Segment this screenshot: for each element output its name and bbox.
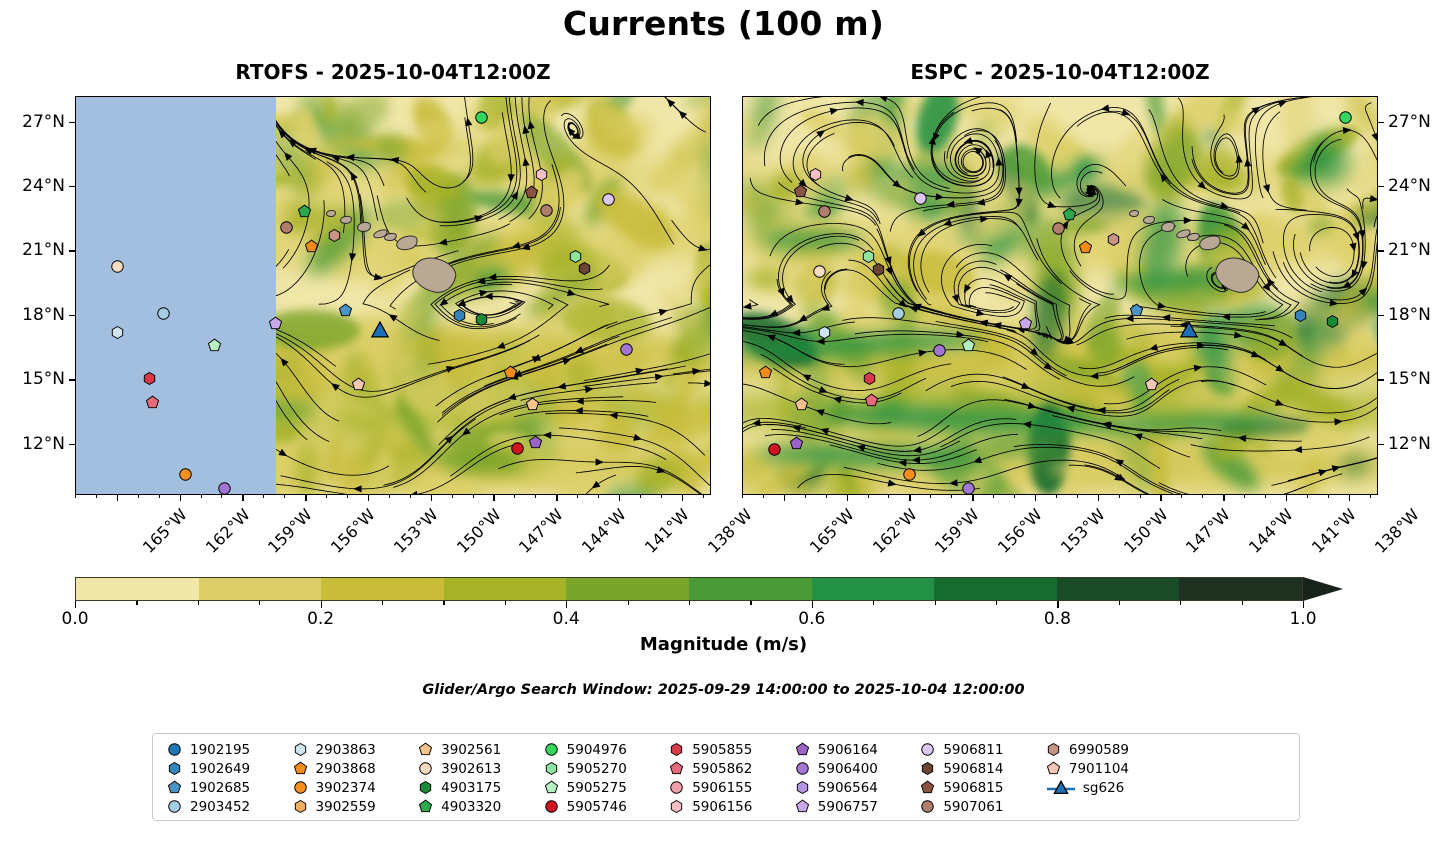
- legend-label: 5906811: [943, 742, 1003, 758]
- legend-label: 5906815: [943, 780, 1003, 796]
- map-marker-1902649[interactable]: [1293, 308, 1308, 323]
- x-axis-minor-tick: [514, 495, 515, 498]
- map-marker-4903320[interactable]: [1062, 207, 1077, 222]
- x-axis-tick: [1349, 495, 1350, 501]
- legend-item-5905270[interactable]: 5905270: [538, 759, 664, 778]
- x-axis-minor-tick: [1244, 495, 1245, 498]
- colorbar-minor-tick: [1242, 601, 1243, 605]
- colorbar-minor-tick: [873, 601, 874, 605]
- legend-label: 5905270: [567, 761, 627, 777]
- map-marker-5907061[interactable]: [279, 220, 294, 235]
- legend-marker-pentagon-icon: [1046, 761, 1062, 777]
- legend-marker-hexagon-icon: [293, 799, 309, 815]
- map-marker-4903175[interactable]: [1325, 314, 1340, 329]
- legend-item-3902561[interactable]: 3902561: [412, 740, 538, 759]
- colorbar-minor-tick: [935, 601, 936, 605]
- island-shape: [1142, 215, 1155, 224]
- legend-box: 1902195190264919026852903452290386329038…: [152, 733, 1300, 821]
- y-axis-tick: [69, 315, 75, 316]
- legend-marker-hexagon-icon: [544, 761, 560, 777]
- map-marker-sg626[interactable]: [370, 320, 390, 340]
- map-marker-6990589[interactable]: [327, 228, 342, 243]
- legend-marker-hexagon-icon: [293, 742, 309, 758]
- map-marker-5906164[interactable]: [528, 435, 543, 450]
- x-axis-minor-tick: [640, 495, 641, 498]
- map-marker-5906400[interactable]: [619, 342, 634, 357]
- colorbar-tick: [812, 601, 813, 608]
- legend-marker-circle-icon: [544, 799, 560, 815]
- map-marker-2903452[interactable]: [891, 306, 906, 321]
- colorbar-minor-tick: [382, 601, 383, 605]
- map-marker-1902685[interactable]: [1129, 303, 1144, 318]
- x-axis-tick: [242, 495, 243, 501]
- legend-label: 5907061: [943, 799, 1003, 815]
- legend-item-3902374[interactable]: 3902374: [287, 778, 413, 797]
- x-axis-tick-label: 138°W: [704, 505, 756, 557]
- x-axis-minor-tick: [1119, 495, 1120, 498]
- map-marker-2903868[interactable]: [758, 365, 773, 380]
- y-axis-tick: [69, 379, 75, 380]
- x-axis-tick-label: 162°W: [202, 505, 254, 557]
- legend-item-5906564[interactable]: 5906564: [789, 778, 915, 797]
- legend-item-4903320[interactable]: 4903320: [412, 798, 538, 817]
- legend-label: 5904976: [567, 742, 627, 758]
- x-axis-minor-tick: [868, 495, 869, 498]
- x-axis-tick: [180, 495, 181, 501]
- legend-label: 3902613: [441, 761, 501, 777]
- map-marker-5905862[interactable]: [145, 395, 160, 410]
- legend-marker-circle-icon: [795, 761, 811, 777]
- x-axis-minor-tick: [763, 495, 764, 498]
- map-marker-5905746[interactable]: [510, 441, 525, 456]
- legend-marker-triangle-line-icon: [1046, 780, 1076, 796]
- legend-label: 4903320: [441, 799, 501, 815]
- map-marker-3902561[interactable]: [794, 397, 809, 412]
- legend-label: 5905862: [692, 761, 752, 777]
- x-axis-minor-tick: [326, 495, 327, 498]
- x-axis-minor-tick: [535, 495, 536, 498]
- colorbar-minor-tick: [505, 601, 506, 605]
- colorbar-minor-tick: [198, 601, 199, 605]
- x-axis-tick: [368, 495, 369, 501]
- y-axis-tick-label: 24°N: [1388, 176, 1447, 196]
- legend-grid: 1902195190264919026852903452290386329038…: [161, 740, 1291, 816]
- map-marker-4903175[interactable]: [474, 312, 489, 327]
- y-axis-tick: [69, 250, 75, 251]
- legend-marker-hexagon-icon: [669, 799, 685, 815]
- x-axis-tick: [556, 495, 557, 501]
- y-axis-tick: [69, 186, 75, 187]
- map-marker-5905862[interactable]: [864, 393, 879, 408]
- map-marker-3902374[interactable]: [902, 467, 917, 482]
- x-axis-tick: [1223, 495, 1224, 501]
- map-marker-5906757[interactable]: [1018, 316, 1033, 331]
- map-marker-5907061[interactable]: [817, 204, 832, 219]
- x-axis-tick-label: 150°W: [1120, 505, 1172, 557]
- y-axis-tick: [69, 444, 75, 445]
- x-axis-minor-tick: [221, 495, 222, 498]
- island-shape: [339, 215, 352, 224]
- colorbar-axis-label: Magnitude (m/s): [0, 634, 1447, 655]
- y-axis-tick-label: 27°N: [0, 112, 65, 132]
- streamlines-espc: [743, 97, 1377, 495]
- colorbar-tick-label: 0.2: [307, 609, 334, 629]
- map-marker-2903868[interactable]: [503, 365, 518, 380]
- map-marker-5907061[interactable]: [539, 203, 554, 218]
- map-marker-5906164[interactable]: [789, 436, 804, 451]
- map-marker-5906811[interactable]: [601, 192, 616, 207]
- legend-item-5905862[interactable]: 5905862: [663, 759, 789, 778]
- x-axis-minor-tick: [951, 495, 952, 498]
- colorbar-band: [444, 578, 567, 600]
- x-axis-tick: [847, 495, 848, 501]
- legend-label: 5906164: [818, 742, 878, 758]
- map-marker-5906815[interactable]: [524, 185, 539, 200]
- legend-label: 5906400: [818, 761, 878, 777]
- legend-item-6990589[interactable]: 6990589: [1040, 740, 1166, 759]
- colorbar-band: [934, 578, 1057, 600]
- map-marker-5905275[interactable]: [961, 338, 976, 353]
- x-axis-minor-tick: [598, 495, 599, 498]
- legend-marker-pentagon-icon: [293, 761, 309, 777]
- map-marker-2903868[interactable]: [1078, 240, 1093, 255]
- y-axis-tick-label: 18°N: [0, 305, 65, 325]
- legend-item-4903175[interactable]: 4903175: [412, 778, 538, 797]
- legend-marker-circle-icon: [920, 742, 936, 758]
- legend-item-5906814[interactable]: 5906814: [914, 759, 1040, 778]
- legend-item-2903452[interactable]: 2903452: [161, 798, 287, 817]
- y-axis-tick-label: 15°N: [1388, 369, 1447, 389]
- x-axis-minor-tick: [1370, 495, 1371, 498]
- map-marker-4903320[interactable]: [297, 204, 312, 219]
- legend-item-7901104[interactable]: 7901104: [1040, 759, 1166, 778]
- map-marker-5906156[interactable]: [534, 167, 549, 182]
- y-axis-tick-label: 27°N: [1388, 112, 1447, 132]
- legend-item-1902685[interactable]: 1902685: [161, 778, 287, 797]
- legend-label: 5906757: [818, 799, 878, 815]
- x-axis-minor-tick: [1202, 495, 1203, 498]
- map-marker-5904976[interactable]: [474, 110, 489, 125]
- legend-marker-hexagon-icon: [920, 761, 936, 777]
- y-axis-tick-label: 12°N: [0, 434, 65, 454]
- y-axis-tick-label: 21°N: [1388, 240, 1447, 260]
- legend-item-5905275[interactable]: 5905275: [538, 778, 664, 797]
- colorbar-tick-label: 0.4: [553, 609, 580, 629]
- x-axis-minor-tick: [1307, 495, 1308, 498]
- colorbar-minor-tick: [136, 601, 137, 605]
- colorbar-band: [812, 578, 935, 600]
- x-axis-minor-tick: [159, 495, 160, 498]
- x-axis-tick-label: 147°W: [1182, 505, 1234, 557]
- x-axis-tick: [1160, 495, 1161, 501]
- legend-marker-pentagon-icon: [418, 799, 434, 815]
- x-axis-tick-label: 156°W: [994, 505, 1046, 557]
- map-marker-3902374[interactable]: [178, 467, 193, 482]
- colorbar-tick-label: 0.0: [61, 609, 88, 629]
- x-axis-tick: [1035, 495, 1036, 501]
- colorbar-minor-tick: [996, 601, 997, 605]
- legend-item-5906400[interactable]: 5906400: [789, 759, 915, 778]
- map-marker-3902613[interactable]: [110, 259, 125, 274]
- legend-label: 2903452: [190, 799, 250, 815]
- x-axis-minor-tick: [703, 495, 704, 498]
- legend-label: 3902561: [441, 742, 501, 758]
- colorbar-tick: [1057, 601, 1058, 608]
- map-marker-5906757[interactable]: [268, 316, 283, 331]
- legend-label: 5905275: [567, 780, 627, 796]
- legend-marker-pentagon-icon: [795, 799, 811, 815]
- map-panel-espc[interactable]: [742, 96, 1378, 495]
- legend-label: 3902559: [316, 799, 376, 815]
- x-axis-minor-tick: [888, 495, 889, 498]
- y-axis-tick: [69, 122, 75, 123]
- map-marker-2903452[interactable]: [156, 306, 171, 321]
- colorbar-tick: [321, 601, 322, 608]
- x-axis-minor-tick: [138, 495, 139, 498]
- x-axis-tick-label: 156°W: [327, 505, 379, 557]
- map-marker-5905746[interactable]: [767, 442, 782, 457]
- legend-item-5906156[interactable]: 5906156: [663, 798, 789, 817]
- legend-label: 5906156: [692, 799, 752, 815]
- legend-marker-pentagon-icon: [418, 742, 434, 758]
- map-marker-5905855[interactable]: [862, 371, 877, 386]
- colorbar-tick-label: 0.8: [1044, 609, 1071, 629]
- legend-item-5905746[interactable]: 5905746: [538, 798, 664, 817]
- map-marker-5906811[interactable]: [913, 191, 928, 206]
- legend-label: 1902195: [190, 742, 250, 758]
- x-axis-tick: [305, 495, 306, 501]
- x-axis-tick: [682, 495, 683, 501]
- legend-marker-pentagon-icon: [795, 742, 811, 758]
- map-marker-5904976[interactable]: [1338, 110, 1353, 125]
- x-axis-minor-tick: [1265, 495, 1266, 498]
- x-axis-tick-label: 159°W: [931, 505, 983, 557]
- x-axis-tick: [1098, 495, 1099, 501]
- legend-marker-pentagon-icon: [167, 780, 183, 796]
- colorbar-band: [566, 578, 689, 600]
- map-marker-5905855[interactable]: [142, 371, 157, 386]
- legend-marker-circle-icon: [418, 761, 434, 777]
- colorbar-minor-tick: [1180, 601, 1181, 605]
- colorbar-tick: [1303, 601, 1304, 608]
- map-marker-5906814[interactable]: [577, 261, 592, 276]
- y-axis-tick: [1378, 444, 1384, 445]
- x-axis-tick: [784, 495, 785, 501]
- legend-item-5906811[interactable]: 5906811: [914, 740, 1040, 759]
- x-axis-tick: [972, 495, 973, 501]
- x-axis-minor-tick: [1181, 495, 1182, 498]
- panel-title-espc: ESPC - 2025-10-04T12:00Z: [742, 60, 1378, 84]
- legend-marker-hexagon-icon: [795, 780, 811, 796]
- map-marker-5906400[interactable]: [961, 481, 976, 495]
- colorbar-minor-tick: [1119, 601, 1120, 605]
- x-axis-tick-label: 165°W: [139, 505, 191, 557]
- colorbar-extend-arrow: [1303, 577, 1343, 601]
- y-axis-tick: [1378, 379, 1384, 380]
- legend-marker-hexagon-icon: [167, 761, 183, 777]
- map-marker-5906156[interactable]: [808, 167, 823, 182]
- x-axis-minor-tick: [284, 495, 285, 498]
- legend-label: 5906155: [692, 780, 752, 796]
- map-marker-1902685[interactable]: [338, 303, 353, 318]
- legend-item-1902195[interactable]: 1902195: [161, 740, 287, 759]
- map-panel-rtofs[interactable]: [75, 96, 711, 495]
- map-marker-3902613[interactable]: [812, 264, 827, 279]
- colorbar: [75, 577, 1343, 601]
- legend-marker-circle-icon: [544, 742, 560, 758]
- panel-title-rtofs: RTOFS - 2025-10-04T12:00Z: [75, 60, 711, 84]
- map-marker-5905275[interactable]: [207, 338, 222, 353]
- x-axis-minor-tick: [96, 495, 97, 498]
- colorbar-minor-tick: [259, 601, 260, 605]
- x-axis-tick: [619, 495, 620, 501]
- x-axis-minor-tick: [410, 495, 411, 498]
- legend-item-5906815[interactable]: 5906815: [914, 778, 1040, 797]
- map-marker-5906814[interactable]: [871, 262, 886, 277]
- nodata-mask-rtofs: [76, 97, 276, 494]
- y-axis-tick: [1378, 186, 1384, 187]
- legend-marker-hexagon-icon: [669, 742, 685, 758]
- map-marker-5906400[interactable]: [217, 481, 232, 495]
- x-axis-minor-tick: [389, 495, 390, 498]
- legend-item-5905855[interactable]: 5905855: [663, 740, 789, 759]
- legend-item-sg626[interactable]: sg626: [1040, 778, 1166, 797]
- y-axis-tick: [1378, 122, 1384, 123]
- legend-label: 5905855: [692, 742, 752, 758]
- y-axis-tick: [1378, 250, 1384, 251]
- colorbar-tick-label: 1.0: [1289, 609, 1316, 629]
- colorbar-band: [321, 578, 444, 600]
- map-marker-5906815[interactable]: [793, 184, 808, 199]
- legend-label: 2903863: [316, 742, 376, 758]
- legend-item-5906164[interactable]: 5906164: [789, 740, 915, 759]
- x-axis-tick: [1286, 495, 1287, 501]
- legend-item-5906757[interactable]: 5906757: [789, 798, 915, 817]
- legend-item-2903868[interactable]: 2903868: [287, 759, 413, 778]
- colorbar-minor-tick: [443, 601, 444, 605]
- legend-label: 7901104: [1069, 761, 1129, 777]
- x-axis-minor-tick: [805, 495, 806, 498]
- legend-marker-pentagon-icon: [920, 780, 936, 796]
- colorbar-band: [76, 578, 199, 600]
- x-axis-minor-tick: [993, 495, 994, 498]
- colorbar-gradient: [75, 577, 1303, 601]
- colorbar-tick: [566, 601, 567, 608]
- map-marker-3902561[interactable]: [525, 397, 540, 412]
- legend-item-1902649[interactable]: 1902649: [161, 759, 287, 778]
- colorbar-band: [1057, 578, 1180, 600]
- x-axis-tick: [493, 495, 494, 501]
- x-axis-minor-tick: [1014, 495, 1015, 498]
- x-axis-tick-label: 153°W: [1057, 505, 1109, 557]
- x-axis-tick: [117, 495, 118, 501]
- legend-marker-circle-icon: [167, 742, 183, 758]
- colorbar-band: [1179, 578, 1302, 600]
- y-axis-tick-label: 21°N: [0, 240, 65, 260]
- legend-label: 1902649: [190, 761, 250, 777]
- colorbar-band: [689, 578, 812, 600]
- x-axis-minor-tick: [452, 495, 453, 498]
- y-axis-tick-label: 24°N: [0, 176, 65, 196]
- legend-label: 6990589: [1069, 742, 1129, 758]
- map-marker-7901104[interactable]: [1144, 377, 1159, 392]
- y-axis-tick-label: 15°N: [0, 369, 65, 389]
- map-marker-2903863[interactable]: [110, 325, 125, 340]
- x-axis-minor-tick: [201, 495, 202, 498]
- legend-label: 2903868: [316, 761, 376, 777]
- legend-item-2903863[interactable]: 2903863: [287, 740, 413, 759]
- legend-item-3902559[interactable]: 3902559: [287, 798, 413, 817]
- x-axis-minor-tick: [1077, 495, 1078, 498]
- legend-marker-hexagon-icon: [1046, 742, 1062, 758]
- map-marker-1902649[interactable]: [452, 308, 467, 323]
- legend-marker-circle-icon: [167, 799, 183, 815]
- x-axis-tick-label: 144°W: [578, 505, 630, 557]
- x-axis-tick-label: 165°W: [806, 505, 858, 557]
- legend-marker-hexagon-icon: [418, 780, 434, 796]
- x-axis-minor-tick: [473, 495, 474, 498]
- legend-label: 5905746: [567, 799, 627, 815]
- map-marker-7901104[interactable]: [351, 377, 366, 392]
- y-axis-tick: [1378, 315, 1384, 316]
- x-axis-minor-tick: [263, 495, 264, 498]
- legend-item-5904976[interactable]: 5904976: [538, 740, 664, 759]
- legend-label: sg626: [1083, 780, 1124, 796]
- x-axis-minor-tick: [1328, 495, 1329, 498]
- colorbar-tick-label: 0.6: [798, 609, 825, 629]
- legend-marker-circle-icon: [293, 780, 309, 796]
- page-title: Currents (100 m): [0, 4, 1447, 43]
- x-axis-tick-label: 150°W: [453, 505, 505, 557]
- legend-marker-pentagon-icon: [544, 780, 560, 796]
- legend-label: 4903175: [441, 780, 501, 796]
- colorbar-tick: [75, 601, 76, 608]
- map-marker-2903868[interactable]: [304, 239, 319, 254]
- x-axis-tick-label: 159°W: [264, 505, 316, 557]
- colorbar-minor-tick: [628, 601, 629, 605]
- x-axis-tick-label: 153°W: [390, 505, 442, 557]
- legend-item-5907061[interactable]: 5907061: [914, 798, 1040, 817]
- x-axis-minor-tick: [577, 495, 578, 498]
- figure-root: Currents (100 m) RTOFS - 2025-10-04T12:0…: [0, 0, 1447, 863]
- x-axis-minor-tick: [742, 495, 743, 498]
- legend-label: 5906564: [818, 780, 878, 796]
- x-axis-tick-label: 162°W: [869, 505, 921, 557]
- map-marker-6990589[interactable]: [1106, 232, 1121, 247]
- x-axis-tick-label: 138°W: [1371, 505, 1423, 557]
- map-marker-5906400[interactable]: [932, 343, 947, 358]
- x-axis-tick: [909, 495, 910, 501]
- x-axis-minor-tick: [75, 495, 76, 498]
- legend-item-5906155[interactable]: 5906155: [663, 778, 789, 797]
- y-axis-tick-label: 12°N: [1388, 434, 1447, 454]
- map-marker-5907061[interactable]: [1051, 221, 1066, 236]
- x-axis-tick-label: 144°W: [1245, 505, 1297, 557]
- x-axis-minor-tick: [1140, 495, 1141, 498]
- legend-label: 3902374: [316, 780, 376, 796]
- legend-label: 5906814: [943, 761, 1003, 777]
- x-axis-tick-label: 141°W: [1308, 505, 1360, 557]
- map-marker-2903863[interactable]: [817, 325, 832, 340]
- colorbar-minor-tick: [750, 601, 751, 605]
- legend-item-3902613[interactable]: 3902613: [412, 759, 538, 778]
- legend-marker-circle-icon: [669, 780, 685, 796]
- x-axis-minor-tick: [930, 495, 931, 498]
- map-marker-sg626[interactable]: [1179, 320, 1199, 340]
- colorbar-band: [199, 578, 322, 600]
- x-axis-minor-tick: [826, 495, 827, 498]
- x-axis-minor-tick: [347, 495, 348, 498]
